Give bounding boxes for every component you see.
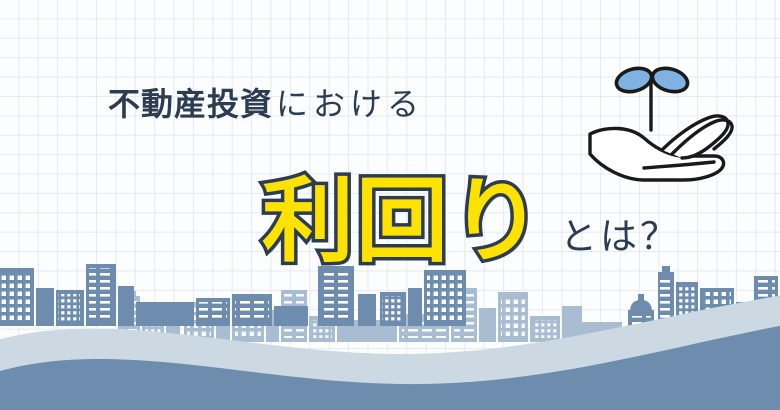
sprout-leaf-right-icon xyxy=(650,64,691,95)
city-skyline-illustration xyxy=(0,250,780,410)
hand-holding-sprout-icon xyxy=(588,58,748,198)
subtitle-thin-text: における xyxy=(276,86,424,122)
open-hand-icon xyxy=(590,116,732,180)
sprout-leaf-left-icon xyxy=(614,64,655,95)
subtitle-line: 不動産投資における xyxy=(108,88,424,120)
banner-canvas: 不動産投資における 利回り とは？ xyxy=(0,0,780,410)
subtitle-bold-text: 不動産投資 xyxy=(108,86,273,122)
